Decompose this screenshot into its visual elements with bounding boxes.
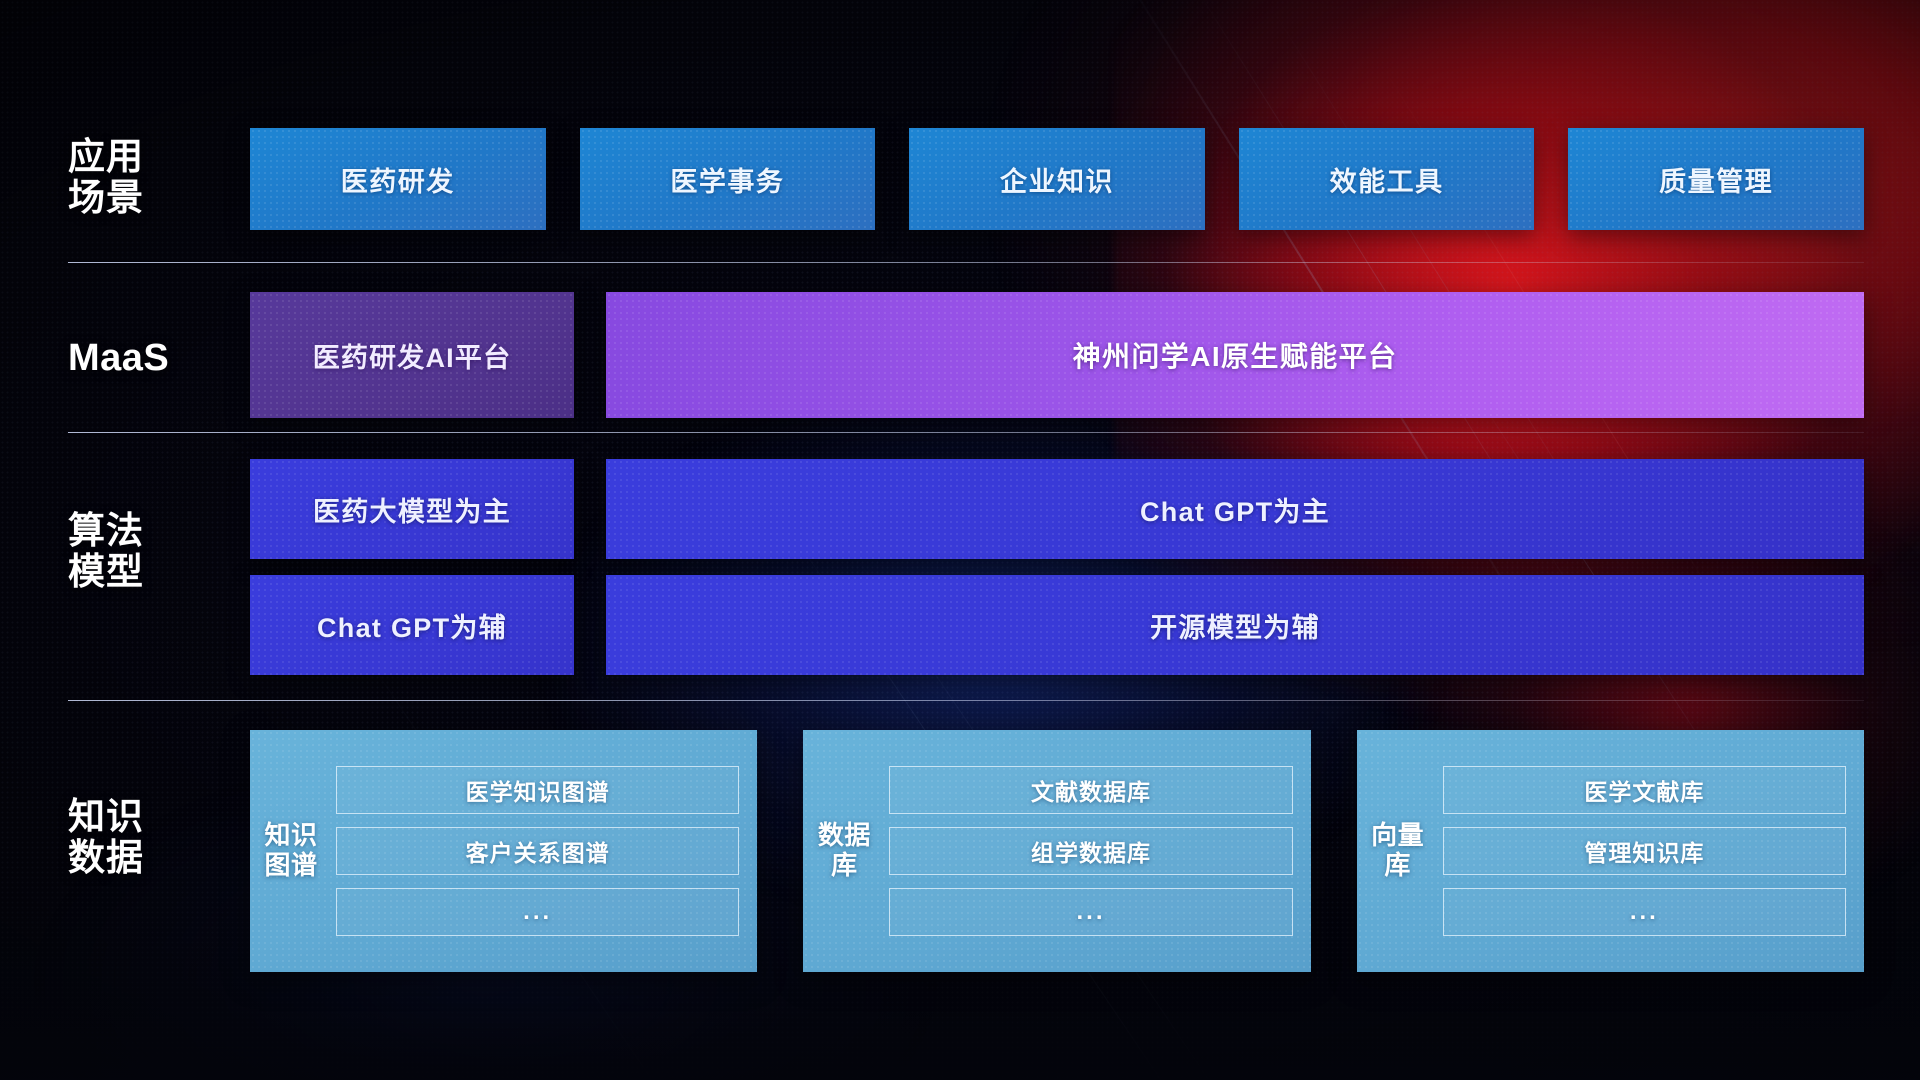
tier-label-knowledge-line-2: 数据 [68, 837, 228, 878]
architecture-diagram: 应用 场景 医药研发 医学事务 企业知识 效能工具 质量管理 MaaS 医药研发… [0, 0, 1920, 1080]
algorithm-row-primary: 医药大模型为主 Chat GPT为主 [250, 459, 1864, 559]
knowledge-group-items: 医学知识图谱 客户关系图谱 ... [336, 742, 739, 960]
knowledge-group-items: 医学文献库 管理知识库 ... [1443, 742, 1846, 960]
tier-label-algorithm: 算法 模型 [68, 510, 228, 593]
knowledge-group-title: 知识图谱 [260, 742, 322, 960]
application-card-enterprise-knowledge[interactable]: 企业知识 [909, 128, 1205, 230]
tier-label-application: 应用 场景 [68, 136, 228, 219]
knowledge-track: 知识图谱 医学知识图谱 客户关系图谱 ... 数据库 文献数据库 组学数据库 .… [250, 730, 1864, 972]
tier-label-maas-line-1: MaaS [68, 337, 228, 380]
application-card-efficiency-tools[interactable]: 效能工具 [1239, 128, 1535, 230]
maas-card-label: 医药研发AI平台 [313, 336, 512, 375]
application-card-label: 效能工具 [1330, 160, 1444, 199]
knowledge-item-more[interactable]: ... [1443, 888, 1846, 936]
algorithm-row-secondary: Chat GPT为辅 开源模型为辅 [250, 575, 1864, 675]
knowledge-item-more[interactable]: ... [889, 888, 1292, 936]
tier-label-application-line-2: 场景 [68, 177, 228, 218]
knowledge-item[interactable]: 管理知识库 [1443, 827, 1846, 875]
divider-algorithm-knowledge [68, 700, 1864, 701]
divider-application-maas [68, 262, 1864, 263]
knowledge-group-title: 数据库 [813, 742, 875, 960]
algorithm-card-label: Chat GPT为主 [1140, 490, 1330, 529]
knowledge-group-knowledge-graph[interactable]: 知识图谱 医学知识图谱 客户关系图谱 ... [250, 730, 757, 972]
application-card-medicine-rd[interactable]: 医药研发 [250, 128, 546, 230]
knowledge-group-database[interactable]: 数据库 文献数据库 组学数据库 ... [803, 730, 1310, 972]
algorithm-card-label: 开源模型为辅 [1150, 606, 1320, 645]
knowledge-group-items: 文献数据库 组学数据库 ... [889, 742, 1292, 960]
tier-label-algorithm-line-1: 算法 [68, 510, 228, 551]
algorithm-card-medicine-llm-primary[interactable]: 医药大模型为主 [250, 459, 574, 559]
application-card-track: 医药研发 医学事务 企业知识 效能工具 质量管理 [250, 128, 1864, 230]
application-card-medical-affairs[interactable]: 医学事务 [580, 128, 876, 230]
divider-maas-algorithm [68, 432, 1864, 433]
algorithm-card-chatgpt-primary[interactable]: Chat GPT为主 [606, 459, 1864, 559]
tier-label-knowledge: 知识 数据 [68, 796, 228, 879]
application-card-quality-management[interactable]: 质量管理 [1568, 128, 1864, 230]
application-card-label: 医药研发 [341, 160, 455, 199]
application-card-label: 医学事务 [670, 160, 784, 199]
tier-label-maas: MaaS [68, 337, 228, 380]
application-card-label: 企业知识 [1000, 160, 1114, 199]
maas-track: 医药研发AI平台 神州问学AI原生赋能平台 [250, 292, 1864, 418]
application-card-label: 质量管理 [1659, 160, 1773, 199]
knowledge-item[interactable]: 文献数据库 [889, 766, 1292, 814]
tier-label-algorithm-line-2: 模型 [68, 551, 228, 592]
maas-card-label: 神州问学AI原生赋能平台 [1073, 335, 1398, 375]
knowledge-group-vector-store[interactable]: 向量库 医学文献库 管理知识库 ... [1357, 730, 1864, 972]
knowledge-item-more[interactable]: ... [336, 888, 739, 936]
maas-card-medicine-ai-platform[interactable]: 医药研发AI平台 [250, 292, 574, 418]
tier-label-application-line-1: 应用 [68, 136, 228, 177]
knowledge-item[interactable]: 医学知识图谱 [336, 766, 739, 814]
knowledge-item[interactable]: 客户关系图谱 [336, 827, 739, 875]
tier-label-knowledge-line-1: 知识 [68, 796, 228, 837]
algorithm-card-chatgpt-secondary[interactable]: Chat GPT为辅 [250, 575, 574, 675]
algorithm-card-opensource-secondary[interactable]: 开源模型为辅 [606, 575, 1864, 675]
algorithm-card-label: 医药大模型为主 [313, 490, 511, 529]
knowledge-group-title: 向量库 [1367, 742, 1429, 960]
algorithm-track: 医药大模型为主 Chat GPT为主 Chat GPT为辅 开源模型为辅 [250, 459, 1864, 675]
algorithm-card-label: Chat GPT为辅 [317, 606, 507, 645]
knowledge-item[interactable]: 组学数据库 [889, 827, 1292, 875]
knowledge-item[interactable]: 医学文献库 [1443, 766, 1846, 814]
maas-card-shenzhou-wenxue-platform[interactable]: 神州问学AI原生赋能平台 [606, 292, 1864, 418]
